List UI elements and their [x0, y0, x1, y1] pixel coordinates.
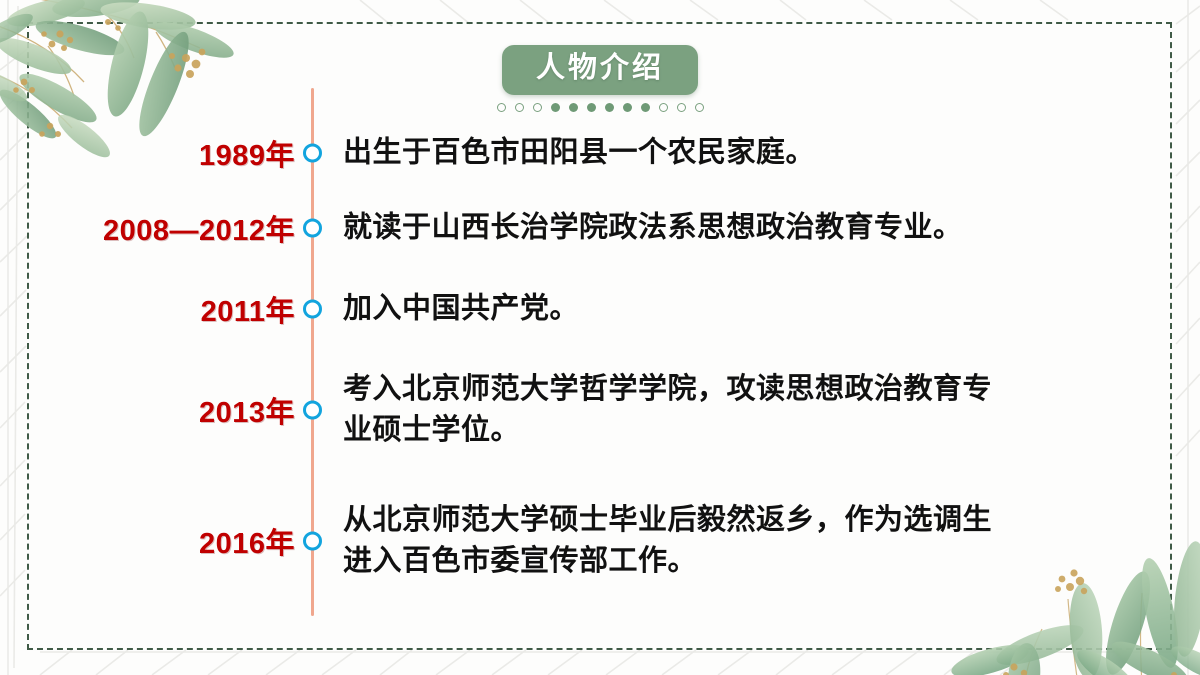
- title-dot-4: [551, 103, 560, 112]
- title-badge: 人物介绍: [502, 45, 698, 95]
- title-dot-row: [497, 103, 704, 112]
- timeline-year-1989: 1989年: [199, 132, 295, 174]
- page-title: 人物介绍: [536, 52, 664, 85]
- timeline-year-2008—2012: 2008—2012年: [103, 207, 295, 249]
- title-dot-1: [497, 103, 506, 112]
- title-dot-7: [605, 103, 614, 112]
- title-block: 人物介绍: [0, 45, 1200, 112]
- timeline-marker-1: [303, 144, 322, 163]
- timeline-description-3: 加入中国共产党。: [343, 288, 1163, 329]
- title-dot-12: [695, 103, 704, 112]
- slide-root: 人物介绍 1989年出生于百色市田阳县一个农民家庭。2008—2012年就读于山…: [0, 0, 1200, 675]
- timeline-marker-4: [303, 401, 322, 420]
- timeline-description-2: 就读于山西长治学院政法系思想政治教育专业。: [343, 207, 1163, 248]
- timeline-year-2011: 2011年: [201, 288, 295, 330]
- timeline-year-2016: 2016年: [199, 520, 295, 562]
- timeline-description-4-line-1: 考入北京师范大学哲学学院，攻读思想政治教育专: [343, 369, 1163, 410]
- title-dot-9: [641, 103, 650, 112]
- title-dot-11: [677, 103, 686, 112]
- timeline-marker-3: [303, 300, 322, 319]
- timeline-description-2-line-1: 就读于山西长治学院政法系思想政治教育专业。: [343, 207, 1163, 248]
- timeline-description-5: 从北京师范大学硕士毕业后毅然返乡，作为选调生进入百色市委宣传部工作。: [343, 500, 1163, 582]
- timeline-marker-2: [303, 219, 322, 238]
- timeline-description-1-line-1: 出生于百色市田阳县一个农民家庭。: [343, 132, 1163, 173]
- timeline-description-5-line-1: 从北京师范大学硕士毕业后毅然返乡，作为选调生: [343, 500, 1163, 541]
- timeline-description-1: 出生于百色市田阳县一个农民家庭。: [343, 132, 1163, 173]
- title-dot-6: [587, 103, 596, 112]
- timeline-description-3-line-1: 加入中国共产党。: [343, 288, 1163, 329]
- title-dot-5: [569, 103, 578, 112]
- title-dot-2: [515, 103, 524, 112]
- timeline-marker-5: [303, 532, 322, 551]
- title-dot-10: [659, 103, 668, 112]
- timeline-description-5-line-2: 进入百色市委宣传部工作。: [343, 541, 1163, 582]
- title-dot-8: [623, 103, 632, 112]
- timeline-description-4: 考入北京师范大学哲学学院，攻读思想政治教育专业硕士学位。: [343, 369, 1163, 451]
- title-dot-3: [533, 103, 542, 112]
- timeline-year-2013: 2013年: [199, 389, 295, 431]
- timeline-description-4-line-2: 业硕士学位。: [343, 410, 1163, 451]
